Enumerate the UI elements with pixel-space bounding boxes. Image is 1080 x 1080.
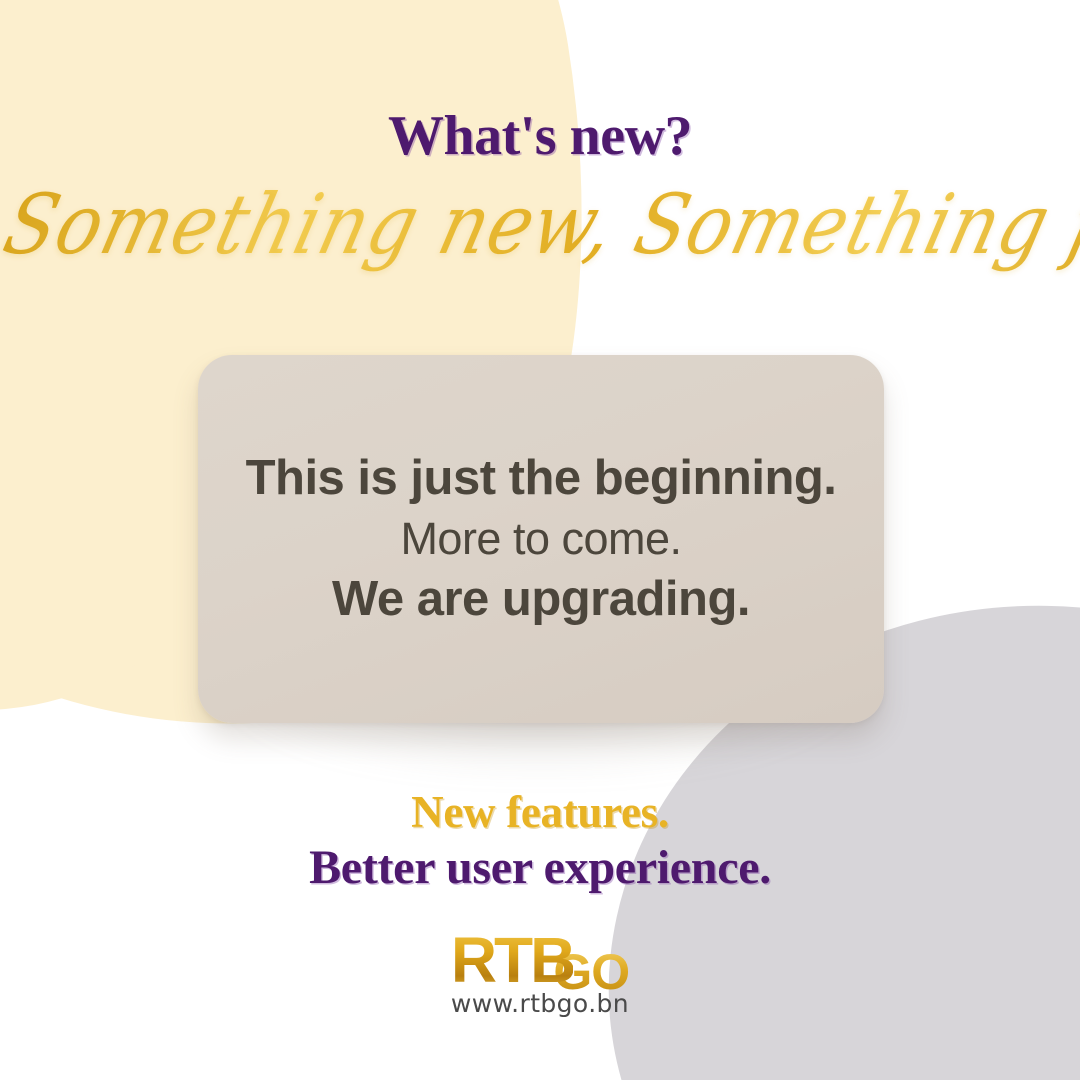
logo-wordmark: RTBGO [451, 925, 629, 995]
script-subtitle-text: Something new, Something for you [0, 177, 1080, 275]
page-title: What's new? [0, 104, 1080, 168]
logo-rtb-text: RTB [451, 924, 574, 996]
tagline-better-experience: Better user experience. [0, 840, 1080, 895]
card-line-2: More to come. [400, 510, 681, 568]
script-subtitle: Something new, Something for you [0, 182, 1080, 269]
message-card: This is just the beginning. More to come… [198, 355, 884, 723]
poster-content: What's new? Something new, Something for… [0, 0, 1080, 1080]
brand-logo: RTBGO www.rtbgo.bn [0, 925, 1080, 1018]
card-line-3: We are upgrading. [332, 568, 750, 631]
card-line-1: This is just the beginning. [246, 447, 837, 510]
promo-poster: What's new? Something new, Something for… [0, 0, 1080, 1080]
tagline-new-features: New features. [0, 786, 1080, 838]
